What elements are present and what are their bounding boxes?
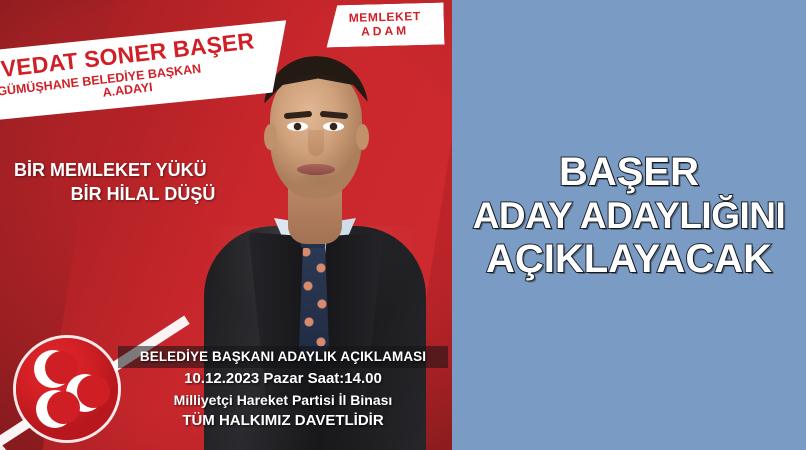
ear-right [356,124,369,150]
campaign-slogan: BİR MEMLEKET YÜKÜ BİR HİLAL DÜŞÜ [14,158,254,207]
event-venue: Milliyetçi Hareket Partisi İl Binası [118,390,448,410]
crescent-icon-1 [34,350,72,388]
ear-left [264,124,277,150]
memleket-adam-badge: MEMLEKET ADAM [325,2,444,47]
eye-left [287,122,308,131]
campaign-poster: VEDAT SONER BAŞER GÜMÜŞHANE BELEDİYE BAŞ… [0,0,452,450]
badge-line2: ADAM [361,24,409,39]
crescent-icon-3 [36,390,74,428]
slogan-line2: BİR HİLAL DÜŞÜ [14,182,254,206]
headline-text-group: BAŞER ADAY ADAYLIĞINI AÇIKLAYACAK [473,150,786,281]
event-invitation: TÜM HALKIMIZ DAVETLİDİR [118,410,448,432]
eye-right [323,122,344,131]
headline-line1: BAŞER [473,150,786,195]
event-details: BELEDİYE BAŞKANI ADAYLIK AÇIKLAMASI 10.1… [118,346,448,432]
chin [288,174,344,194]
headline-line2: ADAY ADAYLIĞINI [473,195,786,236]
slogan-line1: BİR MEMLEKET YÜKÜ [14,158,254,182]
headline-line3: AÇIKLAYACAK [473,237,786,282]
event-title: BELEDİYE BAŞKANI ADAYLIK AÇIKLAMASI [118,346,448,368]
mhp-logo-icon [16,338,118,440]
event-datetime: 10.12.2023 Pazar Saat:14.00 [118,368,448,390]
poster-screenshot: VEDAT SONER BAŞER GÜMÜŞHANE BELEDİYE BAŞ… [0,0,806,450]
headline-panel: BAŞER ADAY ADAYLIĞINI AÇIKLAYACAK [452,0,806,450]
nose [308,130,324,156]
